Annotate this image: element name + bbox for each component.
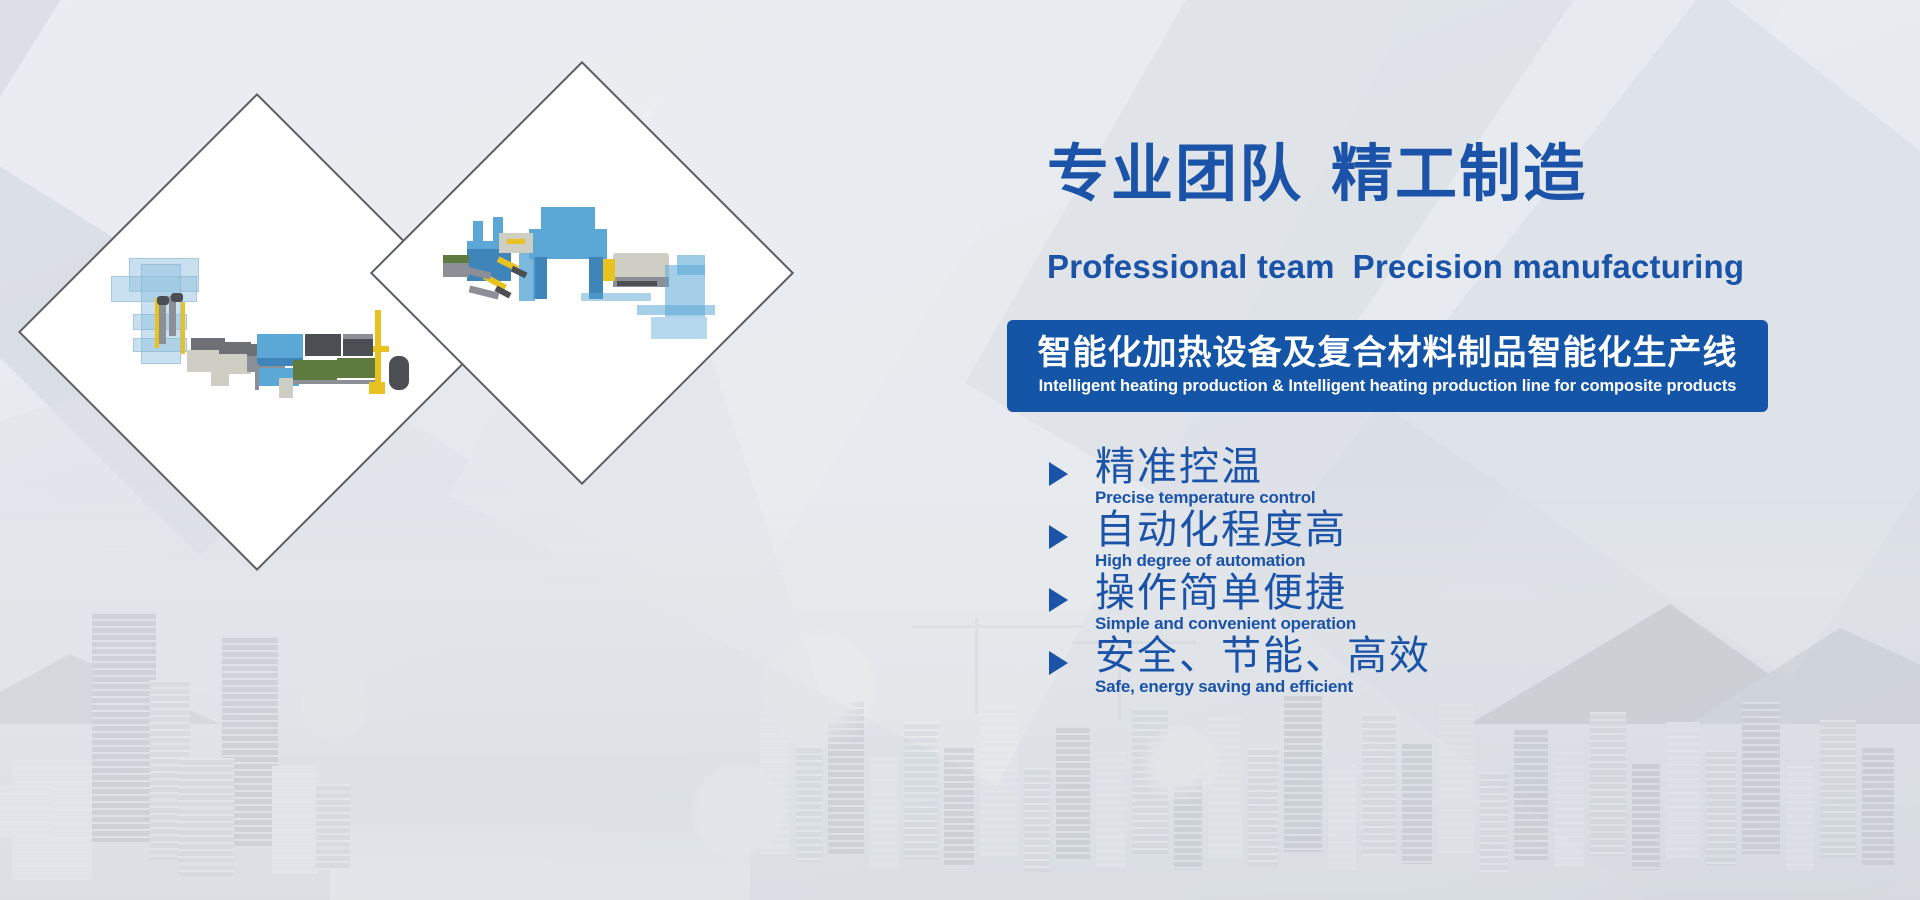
production-line-render-1 [107,252,407,412]
feature-label-en: Simple and convenient operation [1095,614,1356,634]
headline-en-right: Precision manufacturing [1353,248,1745,285]
content-column: 专业团队精工制造 Professional teamPrecision manu… [1007,0,1920,900]
river [330,796,750,900]
feature-label-en: Safe, energy saving and efficient [1095,677,1353,697]
feature-label-cn: 精准控温 [1095,444,1263,490]
list-item: 安全、节能、高效 Safe, energy saving and efficie… [1049,637,1749,700]
feature-label-en: Precise temperature control [1095,488,1315,508]
banner-stage: 专业团队精工制造 Professional teamPrecision manu… [0,0,1920,900]
triangle-bullet-icon [1049,462,1068,486]
feature-label-cn: 自动化程度高 [1095,507,1347,553]
triangle-bullet-icon [1049,525,1068,549]
triangle-bullet-icon [1049,651,1068,675]
headline-cn-left: 专业团队 [1047,140,1303,209]
banner-title-cn: 智能化加热设备及复合材料制品智能化生产线 [1038,336,1738,372]
headline-en-left: Professional team [1047,248,1335,285]
headline-cn-right: 精工制造 [1331,140,1587,209]
banner-title-en: Intelligent heating production & Intelli… [1039,377,1737,396]
list-item: 自动化程度高 High degree of automation [1049,511,1749,574]
page-subtitle: Professional teamPrecision manufacturing [1047,248,1744,286]
feature-label-en: High degree of automation [1095,551,1305,571]
triangle-bullet-icon [1049,588,1068,612]
list-item: 操作简单便捷 Simple and convenient operation [1049,574,1749,637]
feature-label-cn: 操作简单便捷 [1095,570,1347,616]
product-banner: 智能化加热设备及复合材料制品智能化生产线 Intelligent heating… [1007,320,1768,412]
list-item: 精准控温 Precise temperature control [1049,448,1749,511]
feature-label-cn: 安全、节能、高效 [1095,633,1431,679]
page-title: 专业团队精工制造 [1047,144,1587,206]
feature-list: 精准控温 Precise temperature control 自动化程度高 … [1049,448,1749,700]
production-line-render-2 [437,193,727,353]
